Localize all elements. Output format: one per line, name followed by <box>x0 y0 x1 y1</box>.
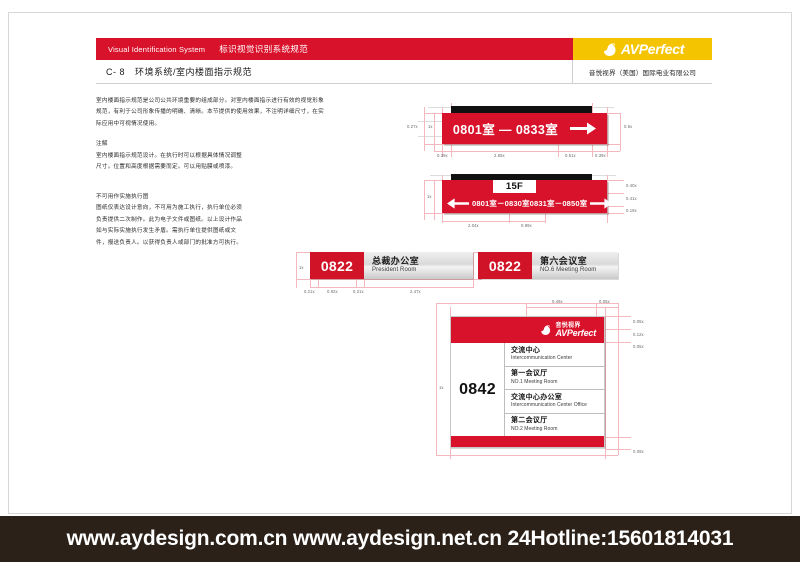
plate-president-number: 0822 <box>310 252 364 279</box>
diagram-area: 0801室 — 0833室 0.27x 1x 0.5x 0.39x 2.65x … <box>0 0 800 562</box>
guide-line <box>605 449 631 450</box>
page-root: Visual Identification System 标识视觉识别系统规范 … <box>0 0 800 562</box>
guide-line <box>296 279 482 280</box>
dim-label: 0.19x <box>626 208 637 213</box>
directory-item-en: Intercommunication Center <box>511 355 604 362</box>
plate-president-body: 总裁办公室 President Room <box>364 252 473 279</box>
dim-label: 1x <box>428 124 433 129</box>
directory-item-cn: 交流中心办公室 <box>511 394 604 402</box>
arrow-right-icon <box>570 121 596 136</box>
directory-item-cn: 交流中心 <box>511 347 604 355</box>
list-item: 交流中心办公室 Intercommunication Center Office <box>505 390 604 414</box>
sign2-left-text: 0801室－0830室 <box>472 198 530 209</box>
guide-line <box>310 287 473 288</box>
directory-footer-bar <box>451 436 604 447</box>
dim-label: 1x <box>299 265 304 270</box>
arrow-left-icon <box>447 197 469 210</box>
dim-label: 0.39x <box>595 153 606 158</box>
sign-room-plate-meeting: 0822 第六会议室 NO.6 Meeting Room <box>478 252 618 279</box>
directory-body: 0842 交流中心 Intercommunication Center 第一会议… <box>451 343 604 436</box>
guide-line <box>424 180 425 220</box>
guide-line <box>605 329 631 330</box>
directory-item-en: NO.1 Meeting Room <box>511 379 604 386</box>
floor-badge: 15F <box>493 180 536 193</box>
guide-line <box>605 316 631 317</box>
dim-label: 0.51x <box>565 153 576 158</box>
plate-meeting-cn: 第六会议室 <box>540 256 618 266</box>
swan-logo-icon <box>539 324 552 336</box>
dim-label: 0.39x <box>437 153 448 158</box>
sign-directory-board: 音悦视界 AVPerfect 0842 交流中心 Intercommunicat… <box>450 316 605 448</box>
dim-label: 0.21x <box>304 289 315 294</box>
guide-line <box>434 180 435 220</box>
dim-label: 0.5x <box>624 124 632 129</box>
guide-line <box>442 221 546 222</box>
sign-floor-range-1: 0801室 — 0833室 <box>442 113 607 144</box>
dim-label: 0.49x <box>552 299 563 304</box>
guide-line <box>596 303 597 317</box>
plate-meeting-en: NO.6 Meeting Room <box>540 267 618 275</box>
guide-line <box>434 151 620 152</box>
dim-label: 0.41x <box>626 196 637 201</box>
guide-line <box>296 252 297 288</box>
dim-label: 0.09x <box>633 449 644 454</box>
sign1-black-cap <box>451 106 592 113</box>
plate-president-en: President Room <box>372 267 473 275</box>
dim-label: 2.65x <box>494 153 505 158</box>
sign-room-plate-president: 0822 总裁办公室 President Room <box>310 252 473 279</box>
sign-floor-range-2: 15F 0801室－0830室 0831室－0850室 <box>442 180 607 213</box>
list-item: 第一会议厅 NO.1 Meeting Room <box>505 367 604 391</box>
directory-logo-en: AVPerfect <box>555 329 596 338</box>
dim-label: 2.04x <box>468 223 479 228</box>
guide-line <box>607 107 608 157</box>
list-item: 第二会议厅 NO.2 Meeting Room <box>505 414 604 437</box>
arrow-right-icon <box>590 197 612 210</box>
guide-line <box>473 252 474 288</box>
dim-label: 1x <box>439 385 444 390</box>
directory-logo-text: 音悦视界 AVPerfect <box>555 323 596 338</box>
guide-line <box>436 303 437 455</box>
guide-line <box>605 437 631 438</box>
guide-line <box>424 213 624 214</box>
sign2-right-text: 0831室－0850室 <box>530 198 588 209</box>
guide-line <box>607 193 624 194</box>
dim-label: 0.05x <box>633 344 644 349</box>
dim-label: 1x <box>427 194 432 199</box>
footer-banner: www.aydesign.com.cn www.aydesign.net.cn … <box>0 516 800 562</box>
guide-line <box>605 342 631 343</box>
sign2-right-group: 0831室－0850室 <box>530 197 613 210</box>
directory-item-cn: 第一会议厅 <box>511 370 604 378</box>
dim-label: 0.40x <box>626 183 637 188</box>
dim-label: 0.92x <box>327 289 338 294</box>
guide-line <box>436 303 618 304</box>
directory-item-en: Intercommunication Center Office <box>511 402 604 409</box>
directory-number: 0842 <box>451 343 505 436</box>
sign2-row: 0801室－0830室 0831室－0850室 <box>442 193 607 213</box>
sign2-left-group: 0801室－0830室 <box>447 197 530 210</box>
directory-item-en: NO.2 Meeting Room <box>511 426 604 433</box>
dim-label: 0.21x <box>353 289 364 294</box>
directory-header: 音悦视界 AVPerfect <box>451 317 604 343</box>
guide-line <box>526 303 527 317</box>
dim-label: 0.89x <box>521 223 532 228</box>
guide-line <box>436 455 618 456</box>
dim-label: 2.47x <box>410 289 421 294</box>
dim-label: 0.12x <box>633 332 644 337</box>
directory-list: 交流中心 Intercommunication Center 第一会议厅 NO.… <box>505 343 604 436</box>
guide-line <box>424 144 620 145</box>
plate-president-cn: 总裁办公室 <box>372 256 473 266</box>
guide-line <box>618 303 619 455</box>
directory-item-cn: 第二会议厅 <box>511 417 604 425</box>
plate-meeting-body: 第六会议室 NO.6 Meeting Room <box>532 252 618 279</box>
dim-label: 0.05x <box>599 299 610 304</box>
guide-line <box>434 113 435 151</box>
footer-text: www.aydesign.com.cn www.aydesign.net.cn … <box>67 527 734 551</box>
guide-line <box>620 113 621 151</box>
plate-meeting-number: 0822 <box>478 252 532 279</box>
dim-label: 0.05x <box>633 319 644 324</box>
sign1-text: 0801室 — 0833室 <box>453 119 558 138</box>
guide-line <box>424 107 425 151</box>
dim-label: 0.27x <box>407 124 418 129</box>
list-item: 交流中心 Intercommunication Center <box>505 343 604 367</box>
